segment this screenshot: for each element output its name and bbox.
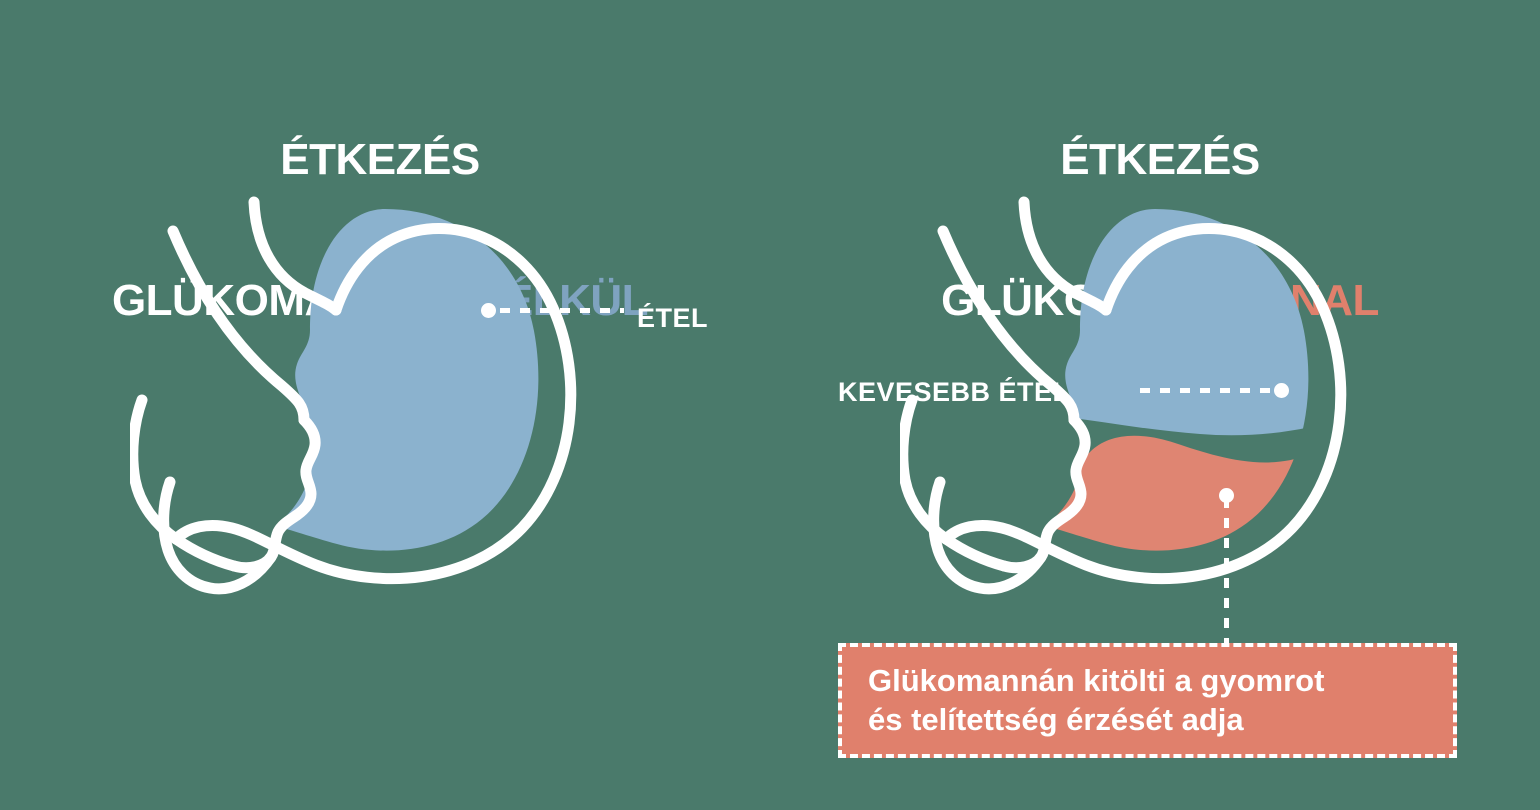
duodenum-outer-line — [903, 400, 1004, 566]
label-kevesebb-etel: KEVESEBB ÉTEL — [838, 377, 1070, 408]
glucomannan-callout-box: Glükomannán kitölti a gyomrot és telítet… — [838, 643, 1457, 758]
esophagus-outer-wall — [173, 231, 304, 420]
leader-line-kevesebb-etel — [1140, 388, 1274, 393]
glucomannan-fill-region — [1000, 436, 1330, 590]
anchor-dot-kevesebb-etel — [1274, 383, 1289, 398]
duodenum-outer-line — [133, 400, 234, 566]
title-right-line1: ÉTKEZÉS — [840, 136, 1480, 183]
stomach-without-glucomannan-icon — [130, 190, 650, 600]
glucomannan-callout-text: Glükomannán kitölti a gyomrot és telítet… — [842, 662, 1324, 740]
leader-line-etel — [500, 308, 624, 313]
label-etel: ÉTEL — [637, 303, 708, 334]
infographic-canvas: ÉTKEZÉS GLÜKOMANNÁN NÉLKÜL ÉTKEZÉS GLÜKO… — [0, 0, 1540, 810]
title-left-line1: ÉTKEZÉS — [60, 136, 700, 183]
leader-line-callout — [1224, 498, 1229, 646]
anchor-dot-etel — [481, 303, 496, 318]
anchor-dot-glucomannan — [1219, 488, 1234, 503]
stomach-diagram-without-glucomannan — [130, 190, 650, 605]
